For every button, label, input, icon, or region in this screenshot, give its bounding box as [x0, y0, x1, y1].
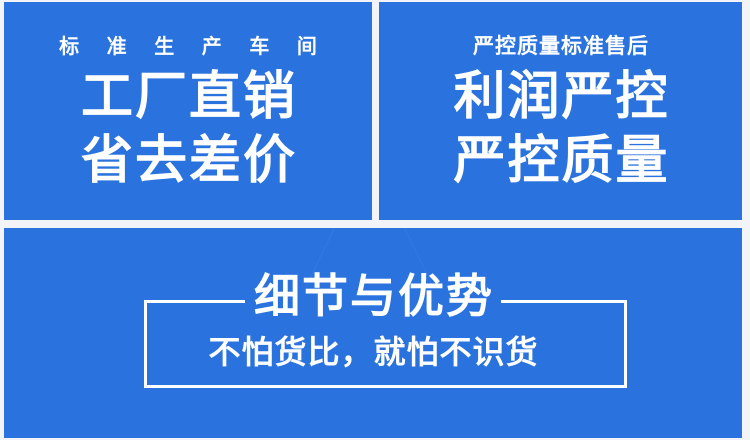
panel-factory-direct-sales: 标 准 生 产 车 间 工厂直销 省去差价 — [4, 2, 372, 220]
details-title: 细节与优势 — [4, 270, 742, 322]
panel-quality-control: 严控质量标准售后 利润严控 严控质量 — [379, 2, 742, 220]
details-subtitle: 不怕货比，就怕不识货 — [4, 333, 742, 371]
factory-headline-line-1: 工厂直销 — [4, 67, 372, 127]
quality-headline-line-2: 严控质量 — [379, 131, 742, 191]
quality-headline-line-1: 利润严控 — [379, 67, 742, 127]
factory-headline-line-2: 省去差价 — [4, 131, 372, 191]
factory-eyebrow-text: 标 准 生 产 车 间 — [4, 30, 372, 59]
promotional-banner: 标 准 生 产 车 间 工厂直销 省去差价 严控质量标准售后 利润严控 严控质量… — [0, 0, 750, 440]
quality-eyebrow-text: 严控质量标准售后 — [379, 30, 742, 60]
panel-details-advantages: 细节与优势 不怕货比，就怕不识货 — [4, 228, 742, 438]
